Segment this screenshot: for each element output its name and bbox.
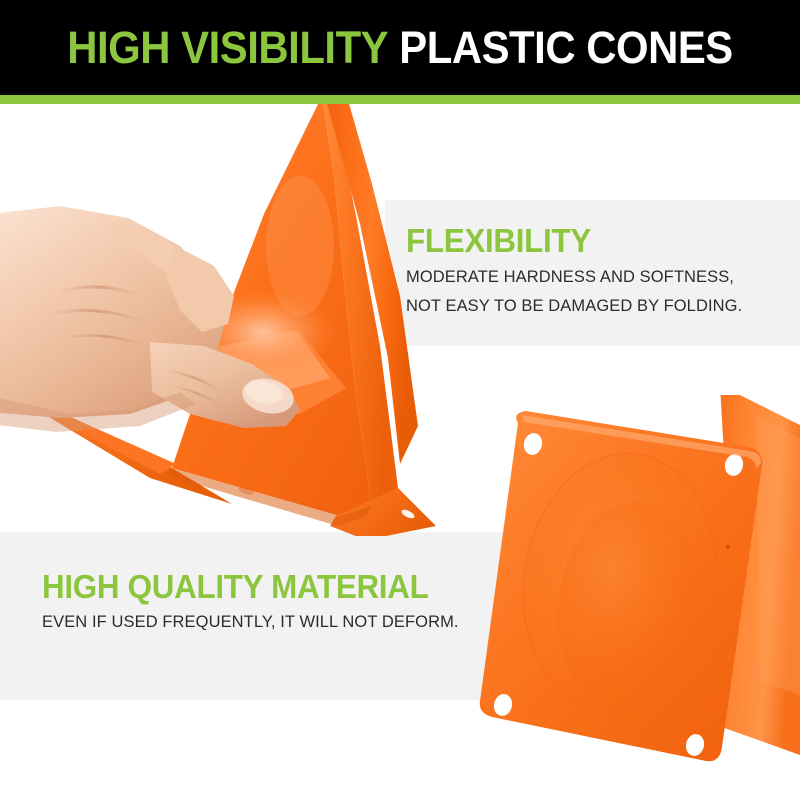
flexibility-body-line-2: NOT EASY TO BE DAMAGED BY FOLDING.	[406, 294, 742, 318]
hand-squeezing-cone-photo	[0, 96, 470, 536]
cone-specular-highlight-secondary	[266, 176, 334, 316]
header-banner: HIGH VISIBILITY PLASTIC CONES	[0, 0, 800, 95]
page-title-primary: HIGH VISIBILITY	[67, 22, 388, 73]
page-title-secondary: PLASTIC CONES	[399, 22, 732, 73]
base-plate-pin-mark	[726, 545, 731, 550]
flexibility-feature-block: FLEXIBILITY MODERATE HARDNESS AND SOFTNE…	[406, 222, 753, 318]
material-heading: HIGH QUALITY MATERIAL	[42, 568, 450, 606]
material-body-line-1: EVEN IF USED FREQUENTLY, IT WILL NOT DEF…	[42, 610, 459, 634]
flexibility-body-line-1: MODERATE HARDNESS AND SOFTNESS,	[406, 265, 742, 289]
flexibility-heading: FLEXIBILITY	[406, 222, 735, 260]
material-feature-block: HIGH QUALITY MATERIAL EVEN IF USED FREQU…	[42, 568, 471, 634]
product-infographic: HIGH VISIBILITY PLASTIC CONES	[0, 0, 800, 800]
cone-body-receding-highlight	[756, 415, 800, 695]
page-title: HIGH VISIBILITY PLASTIC CONES	[28, 22, 772, 74]
page-title-space	[388, 22, 399, 73]
header-accent-bar	[0, 95, 800, 104]
cone-base-plate-photo	[470, 395, 800, 800]
